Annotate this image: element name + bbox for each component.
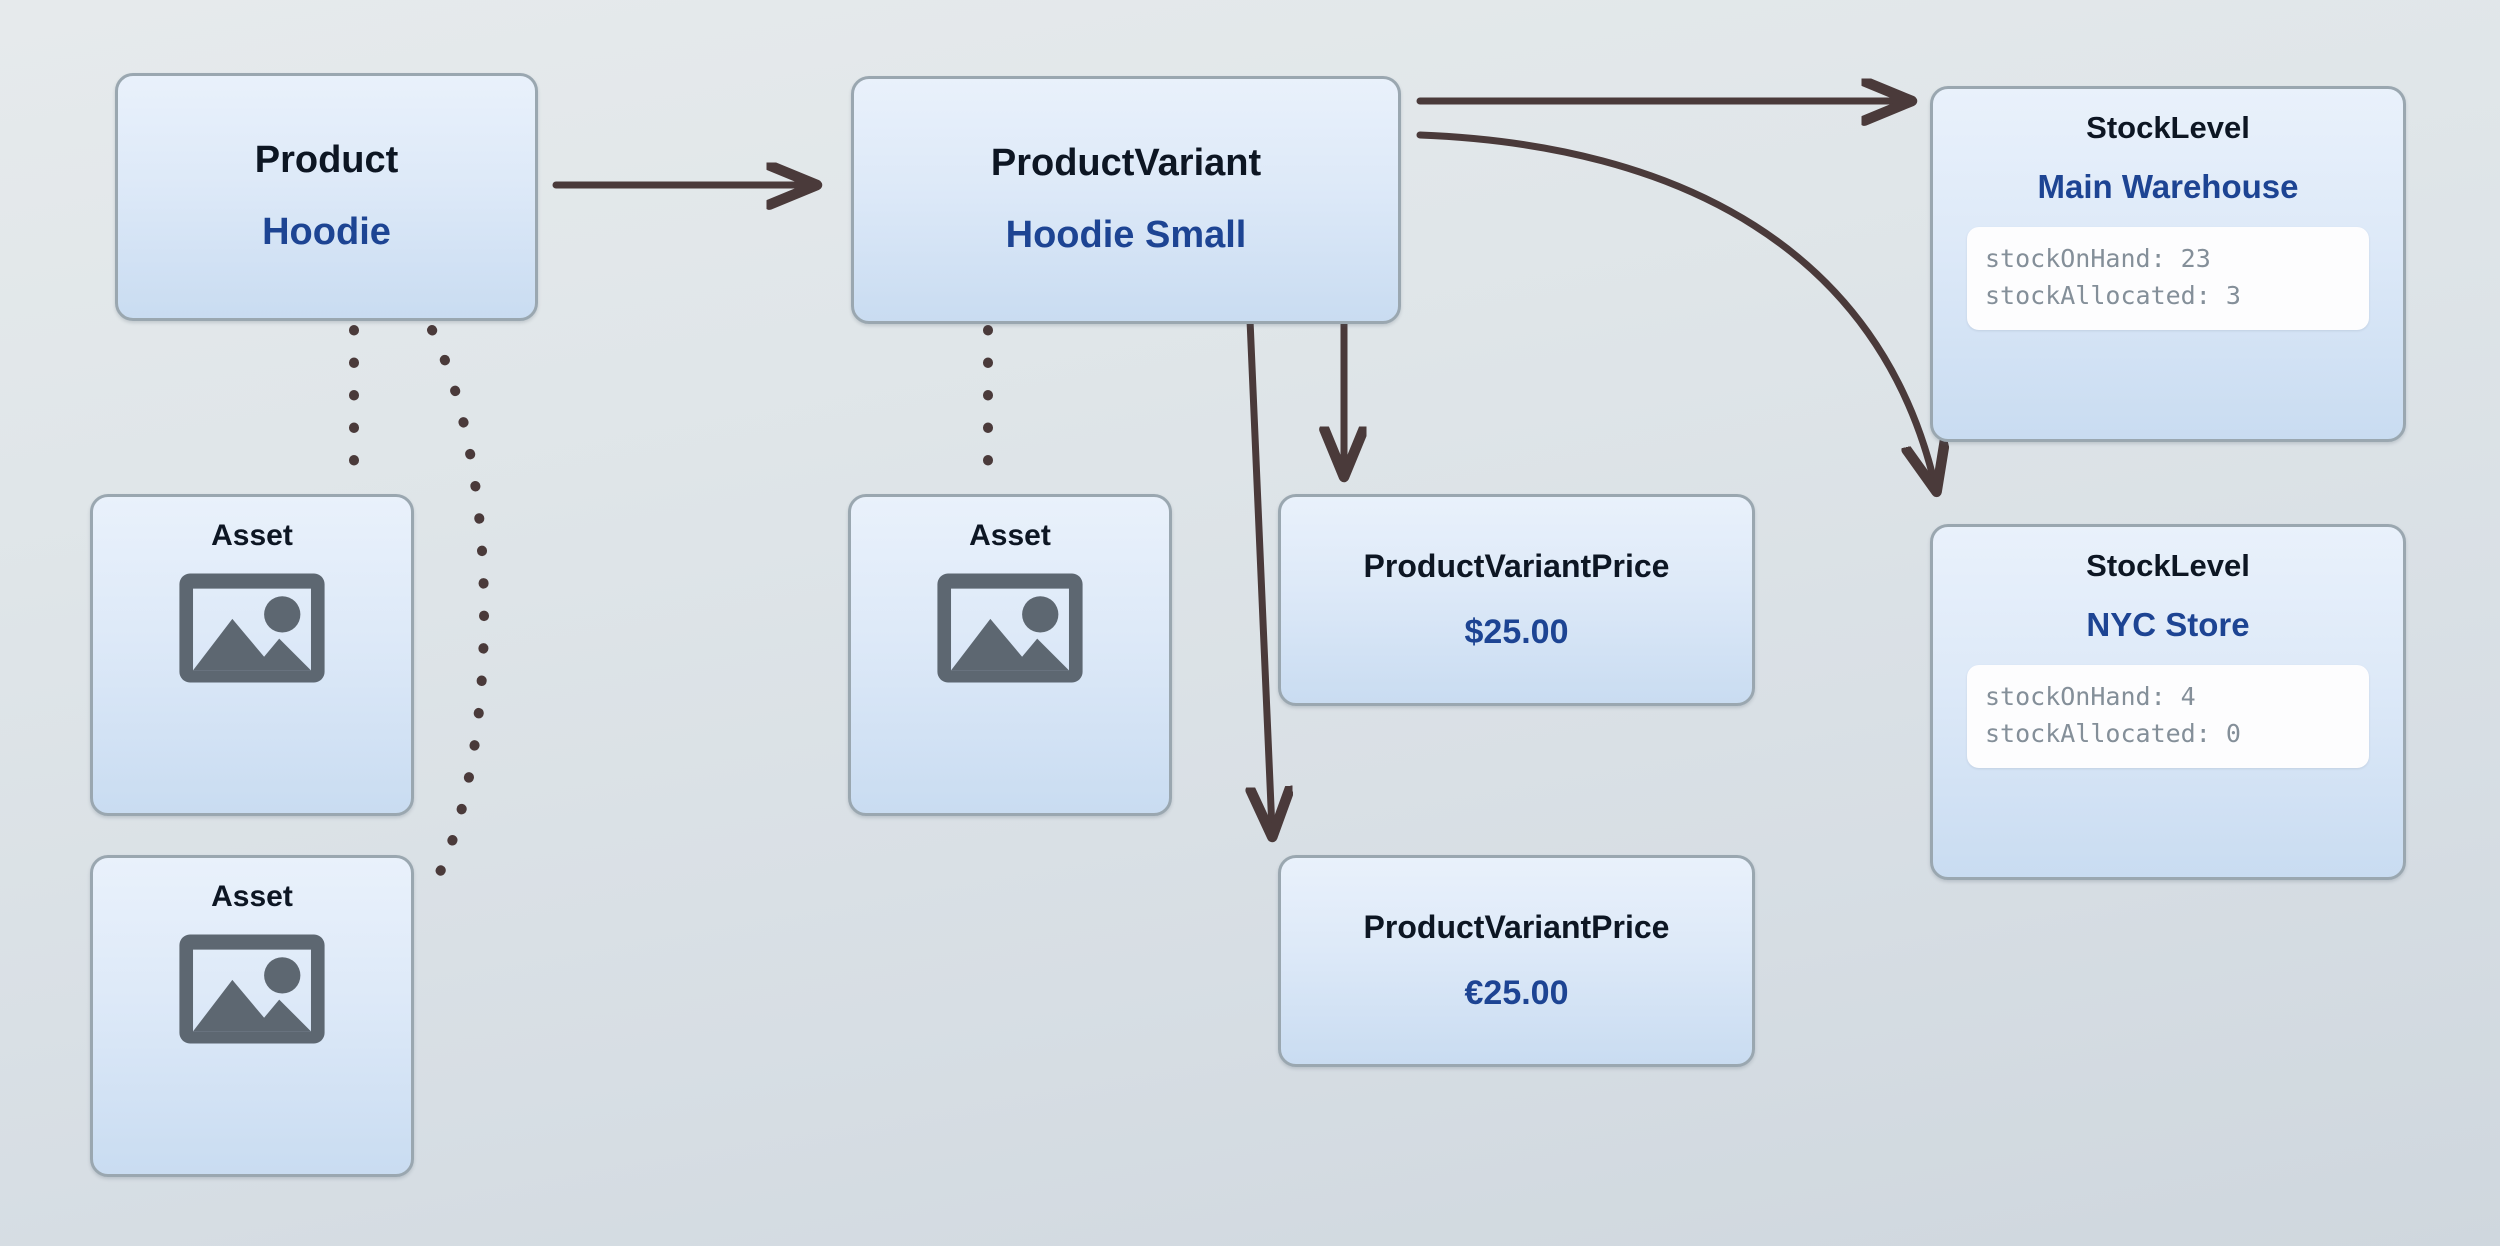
node-price-usd-type: ProductVariantPrice — [1364, 549, 1670, 584]
node-stock-main-label: Main Warehouse — [2038, 169, 2299, 205]
node-asset-product-2[interactable]: Asset — [90, 855, 414, 1177]
node-product-type: Product — [255, 140, 399, 182]
node-asset-variant-1[interactable]: Asset — [848, 494, 1172, 816]
node-product-label: Hoodie — [262, 212, 391, 254]
node-product-variant-type: ProductVariant — [991, 143, 1261, 185]
field-stock-allocated: stockAllocated: 3 — [1985, 278, 2351, 314]
node-product[interactable]: Product Hoodie — [115, 73, 538, 321]
field-stock-allocated: stockAllocated: 0 — [1985, 716, 2351, 752]
node-price-eur-type: ProductVariantPrice — [1364, 910, 1670, 945]
node-price-eur[interactable]: ProductVariantPrice €25.00 — [1278, 855, 1755, 1067]
node-asset-product-1-type: Asset — [211, 519, 293, 552]
image-placeholder-icon — [934, 566, 1086, 690]
node-product-variant-label: Hoodie Small — [1006, 215, 1247, 257]
node-product-variant[interactable]: ProductVariant Hoodie Small — [851, 76, 1401, 324]
node-stock-nyc-type: StockLevel — [2086, 549, 2250, 583]
node-stock-nyc-fields: stockOnHand: 4 stockAllocated: 0 — [1967, 665, 2369, 768]
node-stock-main-type: StockLevel — [2086, 111, 2250, 145]
edge-product-to-asset-2 — [432, 330, 484, 872]
node-asset-variant-1-type: Asset — [969, 519, 1051, 552]
node-price-usd-label: $25.00 — [1465, 614, 1569, 651]
node-asset-product-1[interactable]: Asset — [90, 494, 414, 816]
edge-productvariant-to-price-eur — [1250, 320, 1272, 830]
node-stock-nyc-label: NYC Store — [2086, 607, 2249, 643]
node-stock-main-fields: stockOnHand: 23 stockAllocated: 3 — [1967, 227, 2369, 330]
field-stock-on-hand: stockOnHand: 23 — [1985, 241, 2351, 277]
node-price-usd[interactable]: ProductVariantPrice $25.00 — [1278, 494, 1755, 706]
node-stock-main[interactable]: StockLevel Main Warehouse stockOnHand: 2… — [1930, 86, 2406, 442]
node-stock-nyc[interactable]: StockLevel NYC Store stockOnHand: 4 stoc… — [1930, 524, 2406, 880]
image-placeholder-icon — [176, 566, 328, 690]
node-asset-product-2-type: Asset — [211, 880, 293, 913]
node-price-eur-label: €25.00 — [1465, 975, 1569, 1012]
diagram-canvas: Product Hoodie ProductVariant Hoodie Sma… — [0, 0, 2500, 1246]
field-stock-on-hand: stockOnHand: 4 — [1985, 679, 2351, 715]
edge-productvariant-to-stock-nyc — [1420, 135, 1935, 485]
image-placeholder-icon — [176, 927, 328, 1051]
